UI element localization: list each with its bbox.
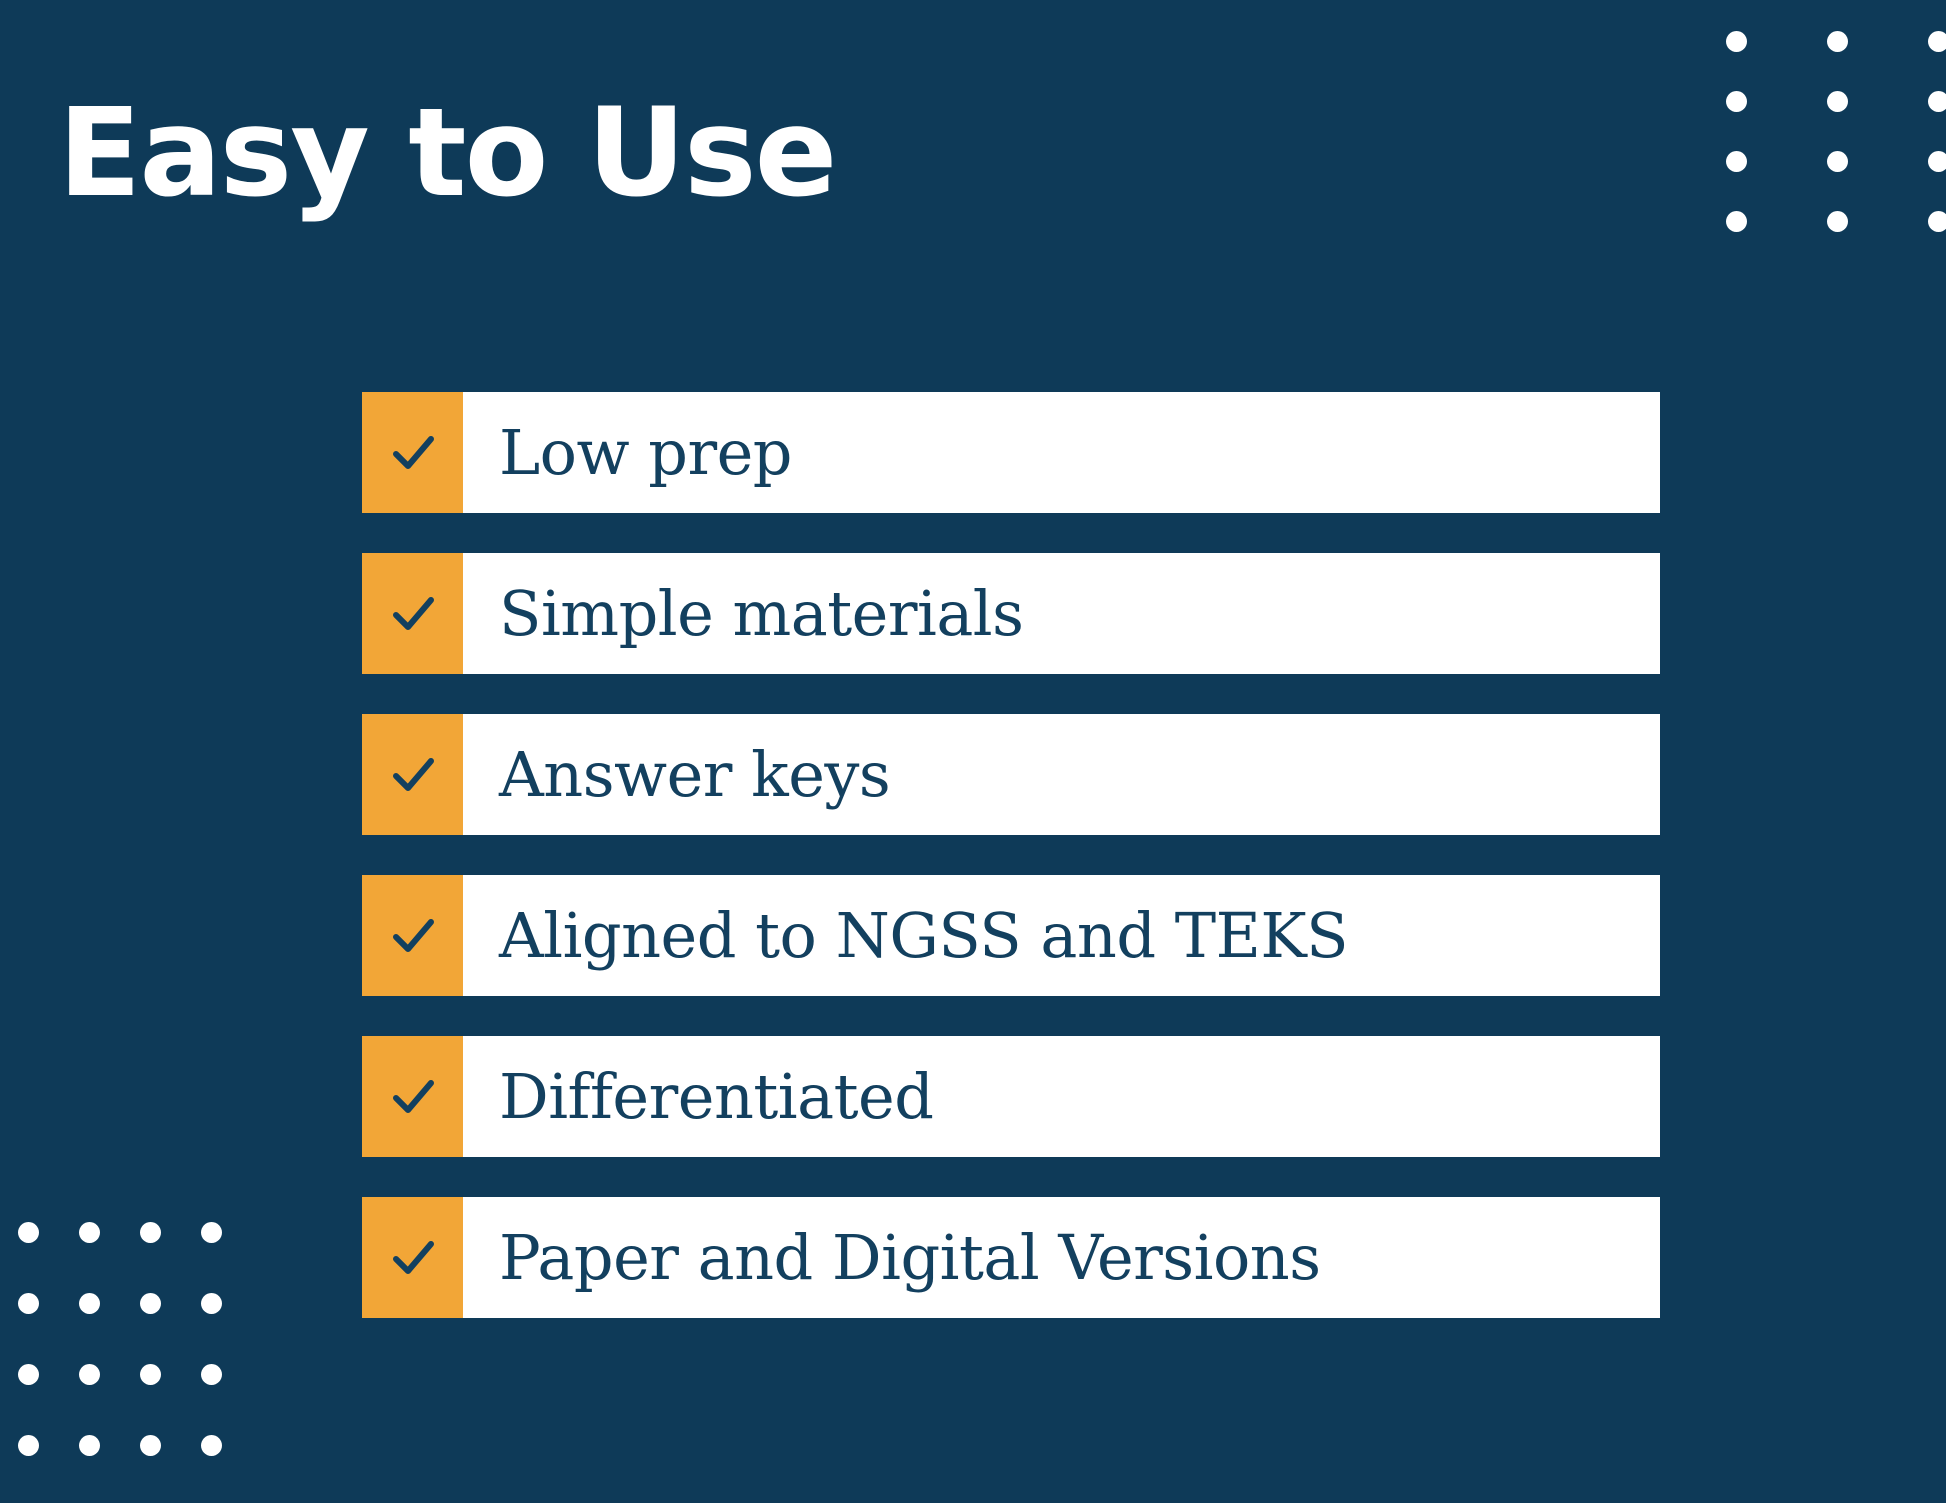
decorative-dot — [201, 1435, 222, 1456]
decorative-dot — [201, 1293, 222, 1314]
check-icon — [362, 1036, 463, 1157]
decorative-dot — [79, 1222, 100, 1243]
feature-list: Low prep Simple materials Answer keys — [362, 392, 1660, 1318]
feature-label: Differentiated — [463, 1036, 1660, 1157]
decorative-dot — [1827, 211, 1848, 232]
feature-row[interactable]: Answer keys — [362, 714, 1660, 835]
check-icon — [362, 875, 463, 996]
dot-grid-top-right — [1726, 31, 1946, 271]
check-icon — [362, 392, 463, 513]
decorative-dot — [140, 1364, 161, 1385]
decorative-dot — [1827, 31, 1848, 52]
decorative-dot — [79, 1364, 100, 1385]
feature-label: Low prep — [463, 392, 1660, 513]
decorative-dot — [140, 1435, 161, 1456]
decorative-dot — [1726, 211, 1747, 232]
decorative-dot — [18, 1435, 39, 1456]
decorative-dot — [140, 1293, 161, 1314]
decorative-dot — [18, 1222, 39, 1243]
decorative-dot — [1726, 91, 1747, 112]
decorative-dot — [18, 1364, 39, 1385]
check-icon — [362, 1197, 463, 1318]
feature-row[interactable]: Paper and Digital Versions — [362, 1197, 1660, 1318]
decorative-dot — [1928, 91, 1946, 112]
decorative-dot — [201, 1222, 222, 1243]
decorative-dot — [140, 1222, 161, 1243]
decorative-dot — [1827, 151, 1848, 172]
decorative-dot — [1827, 91, 1848, 112]
decorative-dot — [79, 1435, 100, 1456]
feature-row[interactable]: Aligned to NGSS and TEKS — [362, 875, 1660, 996]
decorative-dot — [1928, 31, 1946, 52]
decorative-dot — [18, 1293, 39, 1314]
feature-row[interactable]: Differentiated — [362, 1036, 1660, 1157]
check-icon — [362, 714, 463, 835]
decorative-dot — [1726, 151, 1747, 172]
decorative-dot — [1726, 31, 1747, 52]
feature-row[interactable]: Low prep — [362, 392, 1660, 513]
decorative-dot — [1928, 151, 1946, 172]
feature-label: Paper and Digital Versions — [463, 1197, 1660, 1318]
decorative-dot — [1928, 211, 1946, 232]
feature-label: Simple materials — [463, 553, 1660, 674]
decorative-dot — [201, 1364, 222, 1385]
feature-row[interactable]: Simple materials — [362, 553, 1660, 674]
feature-label: Answer keys — [463, 714, 1660, 835]
feature-label: Aligned to NGSS and TEKS — [463, 875, 1660, 996]
dot-grid-bottom-left — [18, 1222, 262, 1503]
page-title: Easy to Use — [58, 92, 835, 214]
decorative-dot — [79, 1293, 100, 1314]
check-icon — [362, 553, 463, 674]
slide-canvas: Easy to Use — [0, 0, 1946, 1503]
